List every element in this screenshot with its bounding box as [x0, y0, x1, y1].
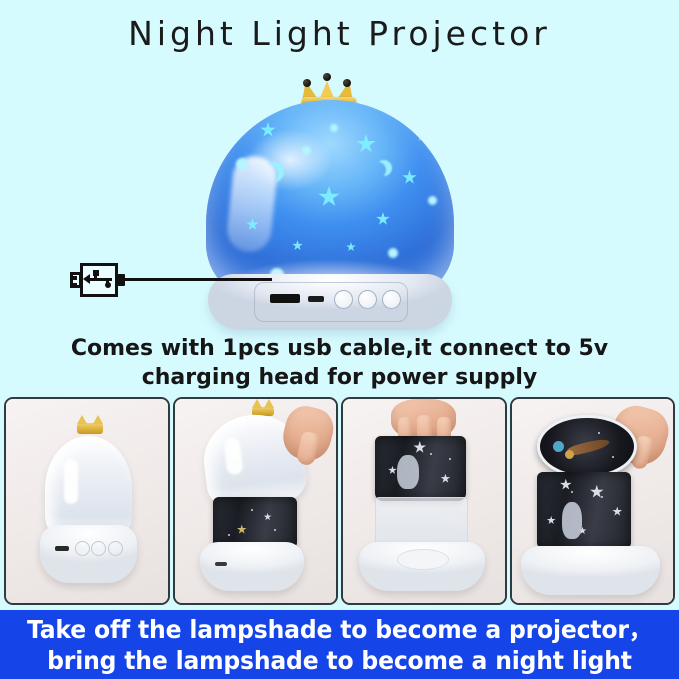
crown-jewel — [303, 79, 311, 87]
star-dot — [612, 456, 614, 458]
usb-caption: Comes with 1pcs usb cable,it connect to … — [0, 334, 679, 392]
star-glow — [260, 122, 276, 138]
star-dot — [571, 491, 573, 493]
lamp-base — [40, 525, 137, 582]
star-decal — [237, 524, 247, 534]
usb-port[interactable] — [270, 294, 300, 303]
page-title: Night Light Projector — [0, 14, 679, 53]
usb-pin — [73, 276, 77, 280]
star-decal — [547, 516, 556, 525]
dome-highlight — [223, 437, 243, 476]
power-button[interactable] — [334, 290, 353, 309]
star-dot — [274, 529, 276, 531]
thumbnail-2-lifting-lampshade[interactable] — [173, 397, 339, 605]
banner-line-2: bring the lampshade to become a night li… — [27, 645, 652, 676]
usb-caption-line-2: charging head for power supply — [0, 363, 679, 392]
bottom-banner: Take off the lampshade to become a proje… — [0, 610, 679, 679]
star-decal — [264, 513, 272, 521]
usb-port — [215, 562, 227, 566]
usb-cable-tip — [116, 274, 125, 286]
star-dot — [228, 534, 230, 536]
usb-caption-line-1: Comes with 1pcs usb cable,it connect to … — [0, 334, 679, 363]
usb-pin — [73, 283, 77, 287]
moon-glow — [264, 162, 284, 182]
thumbnail-1-assembled-lamp[interactable] — [4, 397, 170, 605]
lamp-base — [200, 542, 303, 591]
usb-cable-line — [120, 278, 272, 281]
banner-line-1: Take off the lampshade to become a proje… — [27, 614, 652, 645]
light-dot — [428, 196, 437, 205]
usb-connector-icon — [64, 263, 126, 297]
usb-trident-circle — [105, 282, 111, 288]
mode-button — [91, 541, 106, 556]
micro-usb-port[interactable] — [308, 296, 324, 302]
thumbnail-4-projection-disc[interactable] — [510, 397, 676, 605]
star-decal — [413, 441, 426, 454]
planet-decal — [553, 441, 564, 452]
star-glow — [402, 170, 417, 185]
projector-base — [208, 274, 452, 330]
hero-product-image — [0, 60, 679, 322]
star-dot — [598, 432, 600, 434]
star-dot — [449, 458, 451, 460]
star-glow — [318, 186, 340, 208]
star-dot — [430, 453, 432, 455]
light-dot — [302, 146, 311, 155]
lamp-base — [521, 546, 660, 595]
star-dot — [601, 496, 603, 498]
light-dot — [330, 124, 338, 132]
planet-decal — [565, 450, 574, 459]
projector-dome — [206, 100, 454, 300]
character-decal — [397, 455, 419, 489]
usb-port — [55, 546, 69, 551]
projection-disc — [537, 415, 637, 478]
thumbnail-3-lifting-film[interactable] — [341, 397, 507, 605]
star-decal — [560, 479, 572, 491]
star-decal — [440, 474, 450, 484]
astronaut-decal — [562, 502, 583, 539]
projection-film-cylinder — [375, 436, 465, 501]
star-glow — [376, 212, 390, 226]
star-glow — [416, 130, 428, 142]
crown-icon — [77, 423, 103, 434]
star-dot — [251, 509, 253, 511]
product-infographic: Night Light Projector — [0, 0, 679, 679]
projection-disc-slot — [397, 549, 449, 571]
thumbnail-row — [4, 397, 675, 605]
rotate-button[interactable] — [382, 290, 401, 309]
star-glow — [356, 134, 376, 154]
power-button — [75, 541, 90, 556]
crown-jewel — [343, 79, 351, 87]
banner-text: Take off the lampshade to become a proje… — [27, 614, 652, 676]
dome-highlight — [64, 459, 78, 504]
usb-trident-square — [93, 270, 99, 276]
light-dot — [236, 158, 248, 170]
star-decal — [388, 466, 397, 475]
star-decal — [612, 507, 622, 517]
projection-film-cylinder — [537, 472, 631, 550]
mode-button[interactable] — [358, 290, 377, 309]
crown-jewel — [323, 73, 331, 81]
lamp-base — [359, 542, 485, 591]
rotate-button — [108, 541, 123, 556]
moon-glow — [376, 160, 392, 176]
